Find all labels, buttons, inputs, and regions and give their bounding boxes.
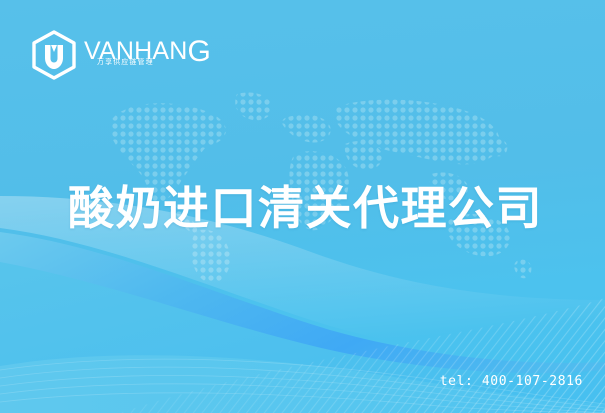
contact-telephone: tel: 400-107-2816 bbox=[440, 374, 583, 389]
brand-logo[interactable]: VANHANG 万享供应链管理 bbox=[30, 30, 188, 80]
hexagon-u-mark-icon bbox=[30, 30, 78, 80]
headline-title: 酸奶进口清关代理公司 bbox=[68, 181, 543, 235]
brand-wordmark-tail: G bbox=[188, 35, 212, 68]
brand-wordmark-wrap: VANHANG 万享供应链管理 bbox=[84, 35, 188, 75]
promo-banner: VANHANG 万享供应链管理 酸奶进口清关代理公司 tel: 400-107-… bbox=[0, 0, 605, 413]
brand-subtitle: 万享供应链管理 bbox=[97, 57, 154, 67]
